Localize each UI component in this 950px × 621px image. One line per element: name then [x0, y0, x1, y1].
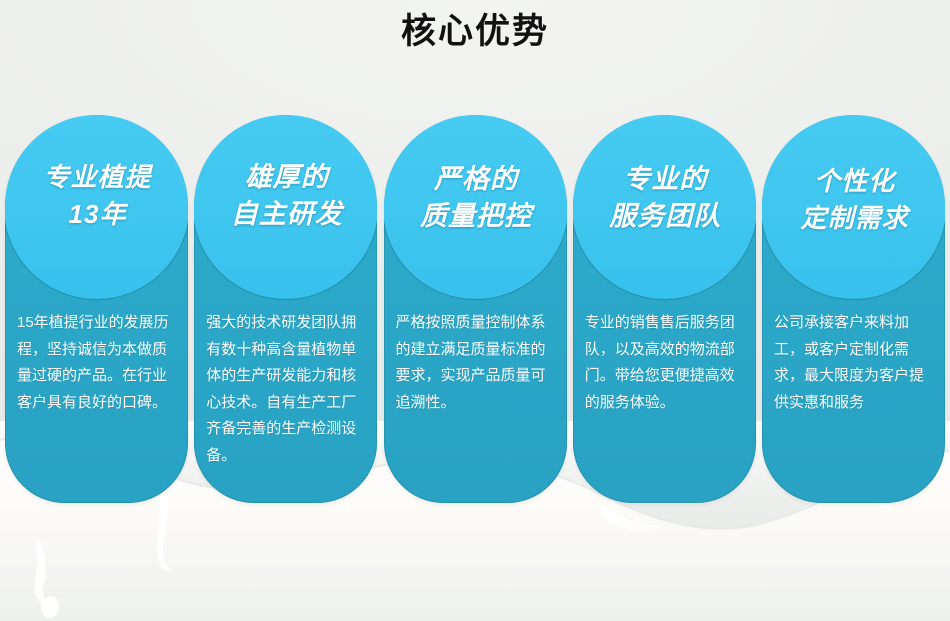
- advantage-card[interactable]: 严格的 质量把控 严格按照质量控制体系的建立满足质量标准的要求，实现产品质量可追…: [384, 115, 567, 503]
- advantage-card[interactable]: 专业植提 13年 15年植提行业的发展历程，坚持诚信为本做质量过硬的产品。在行业…: [5, 115, 188, 503]
- card-body-text: 强大的技术研发团队拥有数十种高含量植物单体的生产研发能力和核心技术。自有生产工厂…: [206, 310, 366, 469]
- card-body-text: 公司承接客户来料加工，或客户定制化需求，最大限度为客户提供实惠和服务: [774, 310, 934, 416]
- page-title: 核心优势: [0, 6, 950, 58]
- advantage-card[interactable]: 雄厚的 自主研发 强大的技术研发团队拥有数十种高含量植物单体的生产研发能力和核心…: [194, 115, 377, 503]
- card-body-text: 严格按照质量控制体系的建立满足质量标准的要求，实现产品质量可追溯性。: [396, 310, 556, 416]
- advantage-card-list: 专业植提 13年 15年植提行业的发展历程，坚持诚信为本做质量过硬的产品。在行业…: [5, 115, 945, 505]
- card-heading: 专业植提 13年: [5, 159, 188, 233]
- advantage-card[interactable]: 个性化 定制需求 公司承接客户来料加工，或客户定制化需求，最大限度为客户提供实惠…: [762, 115, 945, 503]
- card-heading: 严格的 质量把控: [384, 161, 567, 235]
- card-heading: 专业的 服务团队: [573, 161, 756, 235]
- card-body-text: 15年植提行业的发展历程，坚持诚信为本做质量过硬的产品。在行业客户具有良好的口碑…: [17, 310, 177, 416]
- advantage-card[interactable]: 专业的 服务团队 专业的销售售后服务团队，以及高效的物流部门。带给您更便捷高效的…: [573, 115, 756, 503]
- card-body-text: 专业的销售售后服务团队，以及高效的物流部门。带给您更便捷高效的服务体验。: [585, 310, 745, 416]
- card-heading: 雄厚的 自主研发: [194, 159, 377, 233]
- infographic-stage: 核心优势 专业植提 13年 15年植提行业的发展历程，坚持诚信为本做质量过硬的产…: [0, 0, 950, 621]
- card-heading: 个性化 定制需求: [762, 163, 945, 237]
